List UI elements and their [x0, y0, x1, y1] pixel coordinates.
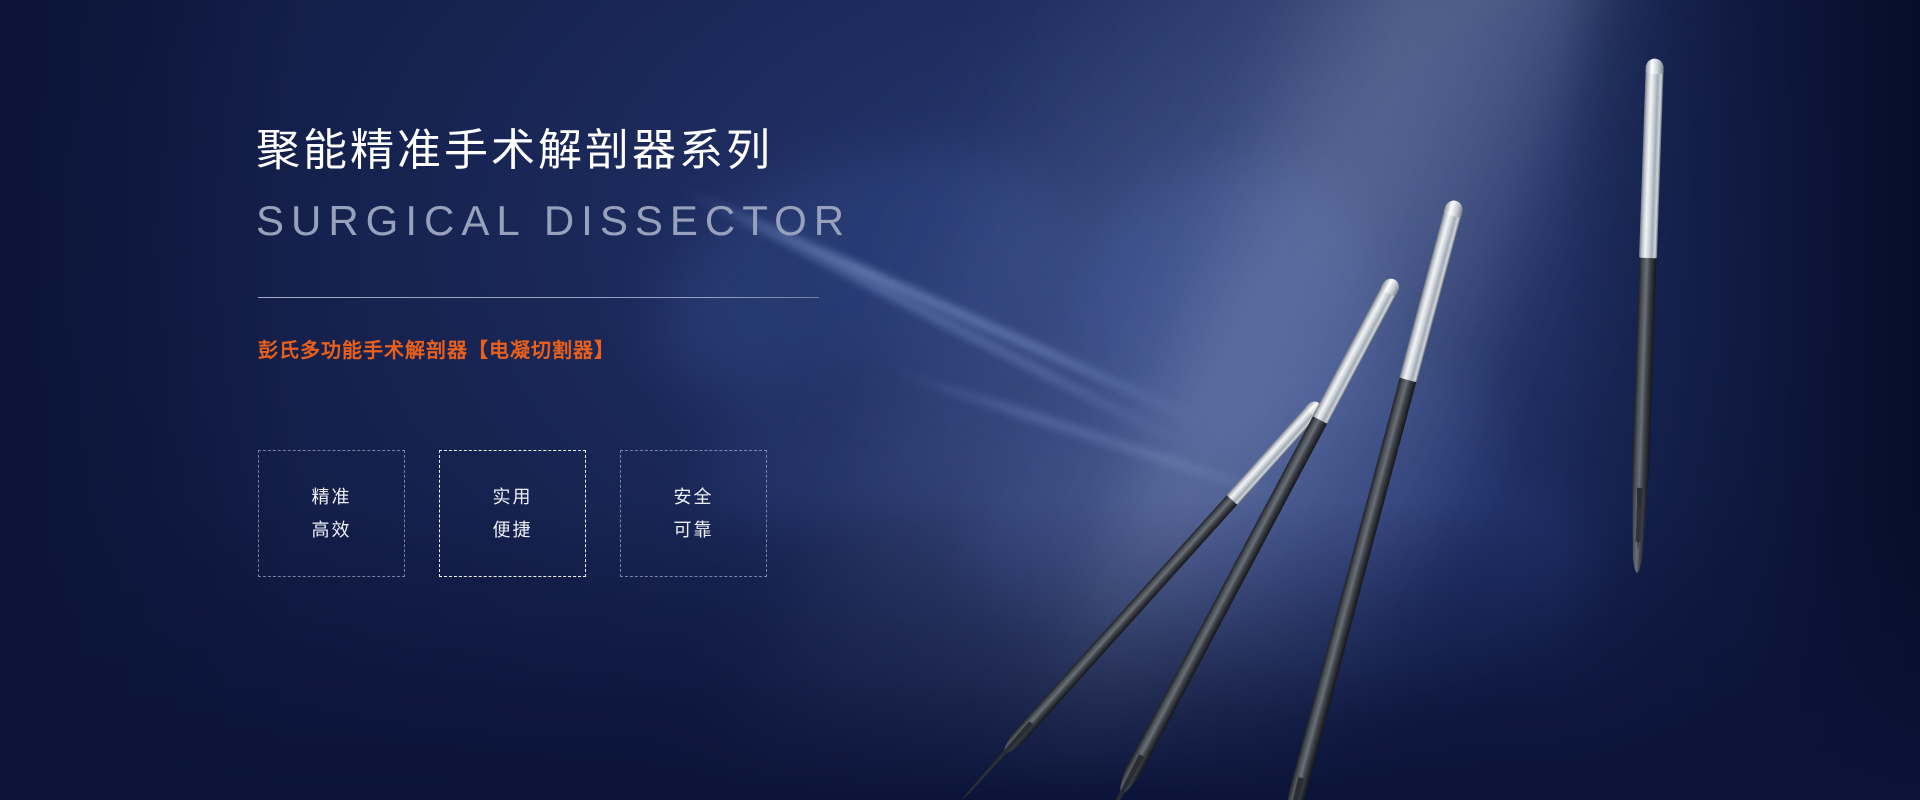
page-subtitle-english: SURGICAL DISSECTOR	[256, 196, 851, 246]
feature-badge-line-1: 安全	[674, 485, 714, 509]
feature-badge-practical[interactable]: 实用 便捷	[439, 450, 586, 577]
feature-badge-list: 精准 高效 实用 便捷 安全 可靠	[258, 450, 767, 577]
hero-content: 聚能精准手术解剖器系列 SURGICAL DISSECTOR 彭氏多功能手术解剖…	[256, 0, 1016, 800]
feature-badge-safety[interactable]: 安全 可靠	[620, 450, 767, 577]
feature-badge-line-1: 精准	[312, 485, 352, 509]
product-name-label: 彭氏多功能手术解剖器【电凝切割器】	[258, 338, 615, 364]
product-hero-banner: 聚能精准手术解剖器系列 SURGICAL DISSECTOR 彭氏多功能手术解剖…	[0, 0, 1920, 800]
feature-badge-line-2: 高效	[312, 518, 352, 542]
feature-badge-line-2: 可靠	[674, 518, 714, 542]
feature-badge-precision[interactable]: 精准 高效	[258, 450, 405, 577]
page-title: 聚能精准手术解剖器系列	[256, 125, 773, 178]
feature-badge-line-1: 实用	[493, 485, 533, 509]
divider	[258, 297, 819, 298]
feature-badge-line-2: 便捷	[493, 518, 533, 542]
